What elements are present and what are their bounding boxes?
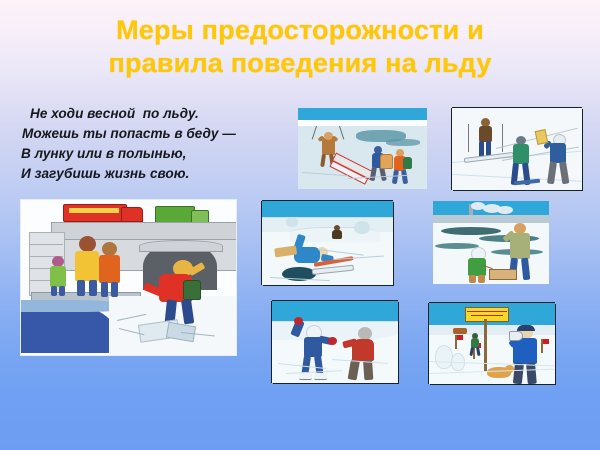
pic3-boy-backpack [183,280,201,300]
pic6-adult [344,327,380,383]
pic1-sky [298,108,427,120]
pic5-adult-body [510,233,530,259]
pic7-distant-walker-leg-2 [476,347,481,356]
title-line-2: правила поведения на льду [34,47,566,80]
slide: Меры предосторожности и правила поведени… [0,0,600,450]
pic6-scene [272,301,398,383]
pic5-child [465,247,491,283]
pic3-child-yellow-head [79,236,96,252]
pic3-child-green-body [50,266,66,287]
pic-skier-in-ice-hole [262,201,393,285]
pic1-child-orange-leg-1 [392,170,399,185]
pic1-child-orange [390,149,410,187]
pic7-sign-text-line-1 [467,311,507,312]
pic2-pole-right [502,124,503,152]
pic7-sign-text-line-2 [471,315,503,316]
pic3-child-orange-leg-2 [111,282,118,297]
pic5-factory-buildings [433,215,549,223]
pic1-person-leg-left [320,154,326,167]
poem-text: Не ходи весной по льду. Можешь ты попаст… [16,104,281,184]
pic7-rescuer-leg-2 [526,363,537,384]
pic7-rescuer-cap [517,325,535,331]
pic6-child-mitten-right [328,337,337,345]
pic1-scene [298,108,427,189]
pic-rescuer-with-megaphone [429,303,555,384]
pic4-bush-2 [354,221,370,234]
pic2-skier-body [479,126,492,142]
pic7-bush-1 [435,345,453,369]
pic7-vehicle [453,328,467,334]
pic5-child-body [468,258,486,276]
pic6-adult-leg-1 [348,359,360,380]
poem-line-2: Можешь ты попасть в беду — [16,124,281,144]
pic2-rescuer-blue [546,134,572,188]
pic3-child-orange-body [99,255,120,283]
pic3-child-green-leg-2 [59,286,65,296]
pic2-pole-left [468,124,469,152]
pic4-distant-skier-body [332,230,342,239]
pic4-bush-1 [286,217,298,227]
pic6-skate-right [314,373,327,380]
pic3-child-green-leg-1 [51,286,57,296]
pic3-tunnel-rim [139,240,223,252]
pic3-red-truck-cab [121,207,143,222]
pic2-scene [452,108,582,190]
pic7-flag-1 [457,335,463,340]
poem-line-1: Не ходи весной по льду. [16,104,281,124]
pic3-child-green [48,256,70,296]
pic3-child-yellow-body [75,251,99,281]
pic4-falling-skier-body [294,247,320,263]
pic7-scene [429,303,555,384]
pic1-child-orange-leg-2 [401,170,408,185]
pic7-dog-head [505,365,514,373]
pic3-child-orange-leg-1 [101,282,108,297]
pic4-scene [262,201,393,285]
pic3-red-truck [63,204,127,222]
pic1-child-blue-leg-1 [370,167,377,182]
pic1-child-blue [368,146,388,186]
pic7-megaphone [509,331,523,341]
title-line-1: Меры предосторожности и [116,15,484,45]
pic7-distant-walker-leg-1 [469,347,474,356]
pic5-thin-ice-1 [441,227,501,235]
pic2-rescuer-green-body [513,144,529,164]
pic3-child-orange [97,242,125,296]
pic3-child-orange-head [102,242,117,256]
page-title: Меры предосторожности и правила поведени… [0,14,600,80]
pic1-child-orange-backpack [403,157,412,169]
pic7-warning-sign [465,307,509,322]
pic3-stair-step-1 [29,244,63,245]
pic6-skate-left [299,373,312,380]
poem-line-4: И загубишь жизнь свою. [16,164,281,184]
pic7-rescuer [507,327,541,384]
pic-child-with-sled [433,201,549,284]
pic6-child-mitten-left [294,317,303,325]
pic7-distant-walker [469,333,481,357]
pic5-sled [489,269,517,280]
pic-child-skating [272,301,398,383]
pic-children-on-embankment [20,199,237,356]
pic5-child-leg-1 [469,275,476,283]
pic2-rescuer-blue-body [550,143,566,163]
pic3-boy-leg-2 [181,299,194,324]
pic3-child-yellow-leg-1 [77,280,85,296]
poem-line-3: В лунку или в полынью, [16,144,281,164]
pic5-smoke-3 [497,206,513,214]
pic3-truck-band [69,208,119,213]
pic-skier-falling-warning-sign [298,108,427,189]
pic2-rescuer-blue-leg-2 [559,161,569,184]
pic-rescue-with-rope [452,108,582,190]
pic5-adult-leg-2 [521,258,530,281]
pic3-child-yellow-leg-2 [89,280,97,296]
pic6-sky [272,301,398,323]
pic1-person-body [322,138,335,155]
pic5-scene [433,201,549,284]
pic5-child-leg-2 [478,275,485,283]
pic2-rescuer-blue-leg-1 [547,162,557,185]
pic3-scene [21,200,236,355]
pic1-open-water-2 [386,139,420,146]
pic7-rescuer-leg-1 [513,363,524,384]
pic7-flag-4 [543,339,549,344]
